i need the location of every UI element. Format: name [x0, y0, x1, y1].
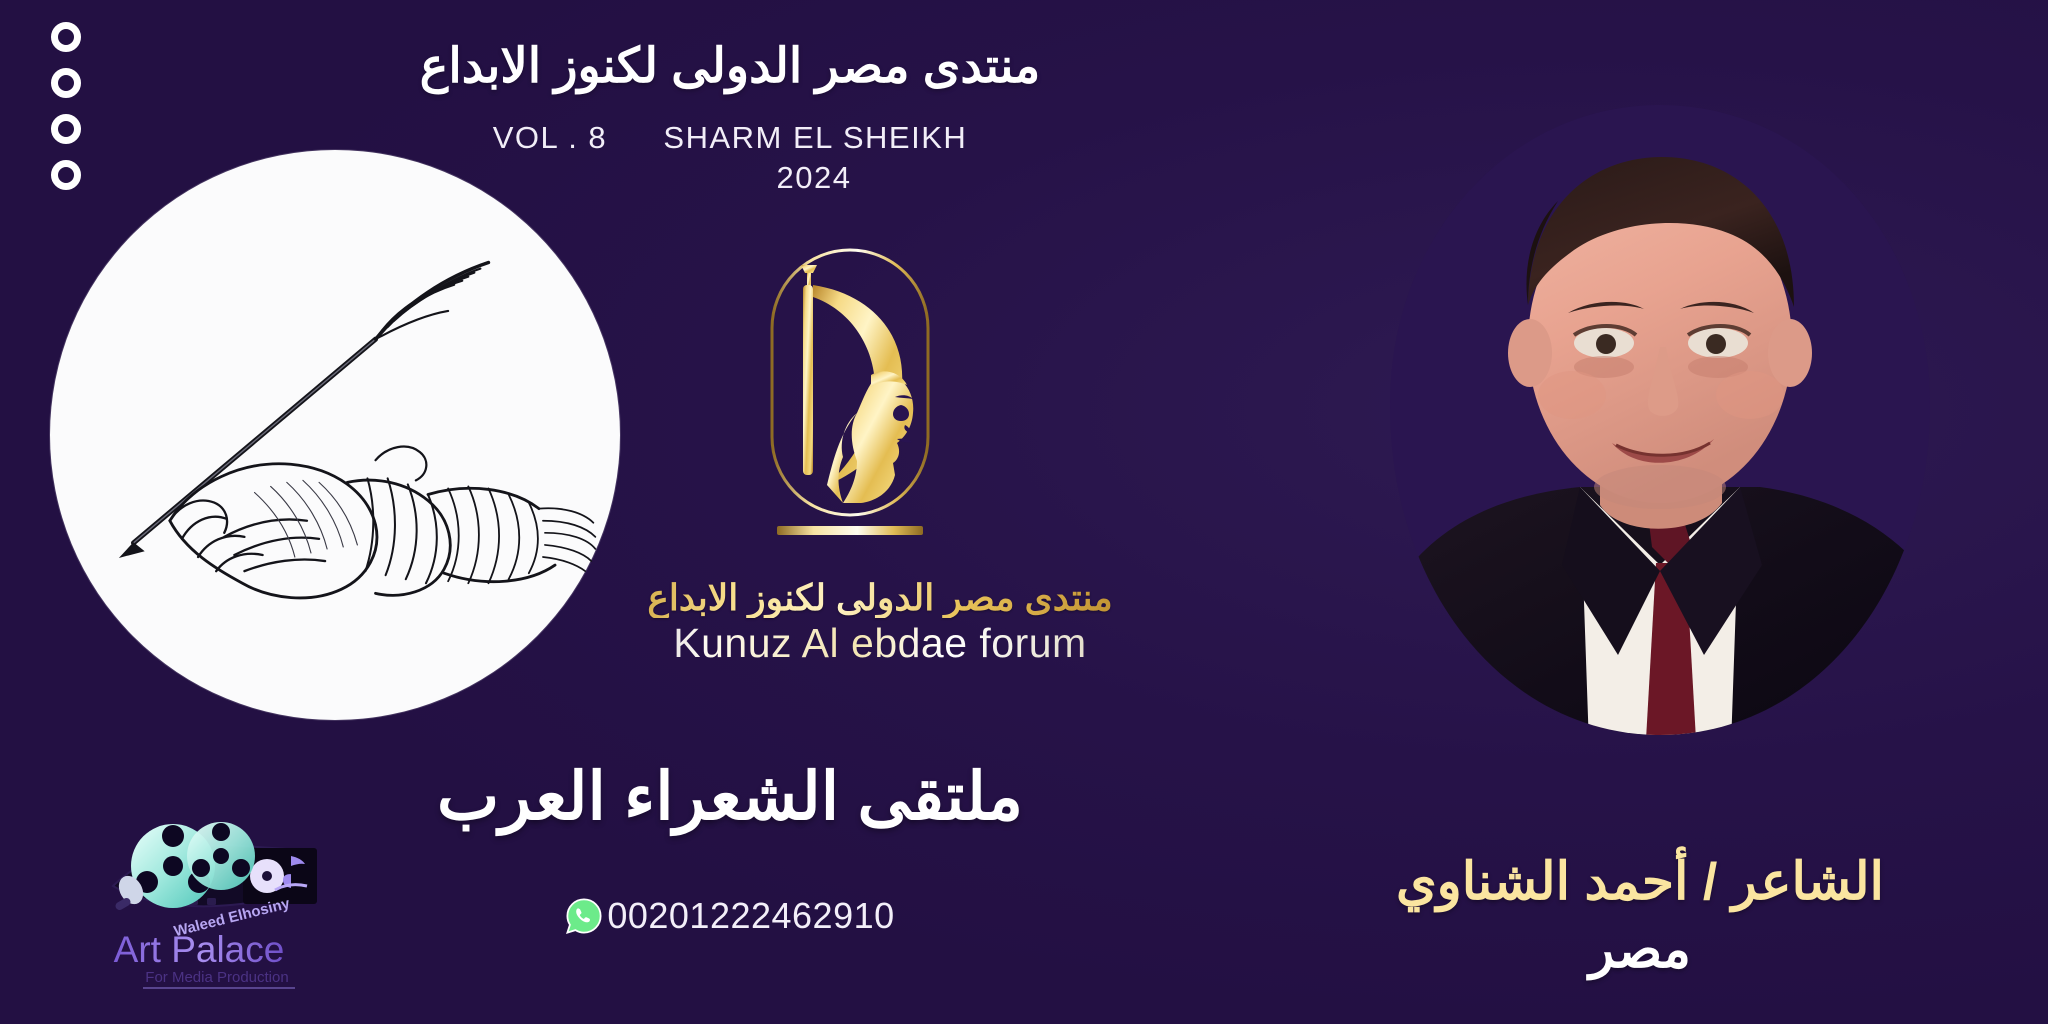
contact-row[interactable]: 00201222462910 — [400, 895, 1060, 937]
guest-name-block: الشاعر / أحمد الشناوي مصر — [1290, 855, 1990, 980]
art-palace-logo: Waleed Elhosiny Art Palace For Media Pro… — [95, 790, 345, 995]
volume-label: VOL . 8 — [493, 120, 607, 155]
guest-country: مصر — [1290, 920, 1990, 980]
decor-ring-1 — [51, 22, 81, 52]
forum-logo-mark — [660, 245, 1040, 555]
whatsapp-icon[interactable] — [565, 897, 603, 935]
phone-number[interactable]: 00201222462910 — [607, 895, 894, 937]
hand-holding-quill-engraving-icon — [73, 207, 597, 663]
guest-portrait — [1330, 95, 1990, 775]
forum-name-arabic: منتدى مصر الدولى لكنوز الابداع — [610, 578, 1150, 618]
volume-city-line: VOL . 8 SHARM EL SHEIKH — [330, 120, 1130, 156]
forum-name-english: Kunuz Al ebdae forum — [610, 620, 1150, 667]
harp-woman-cartouche-icon — [765, 245, 935, 545]
guest-name: الشاعر / أحمد الشناوي — [1290, 855, 1990, 910]
film-reel-icon: Waleed Elhosiny Art Palace For Media Pro… — [95, 790, 345, 995]
poster-canvas: منتدى مصر الدولى لكنوز الابداع VOL . 8 S… — [0, 0, 2048, 1024]
portrait-photo — [1330, 95, 1990, 775]
art-palace-title: Art Palace — [114, 929, 285, 970]
decor-ring-3 — [51, 114, 81, 144]
quill-illustration-circle — [50, 150, 620, 720]
event-headline: ملتقى الشعراء العرب — [400, 760, 1060, 833]
year-label: 2024 — [330, 160, 1130, 196]
art-palace-subtitle: For Media Production — [145, 969, 288, 986]
page-title: منتدى مصر الدولى لكنوز الابداع — [330, 38, 1130, 96]
city-label: SHARM EL SHEIKH — [663, 120, 967, 155]
header-text-block: منتدى مصر الدولى لكنوز الابداع VOL . 8 S… — [330, 38, 1130, 196]
decor-ring-2 — [51, 68, 81, 98]
forum-logo-wordmark: منتدى مصر الدولى لكنوز الابداع Kunuz Al … — [610, 578, 1150, 667]
